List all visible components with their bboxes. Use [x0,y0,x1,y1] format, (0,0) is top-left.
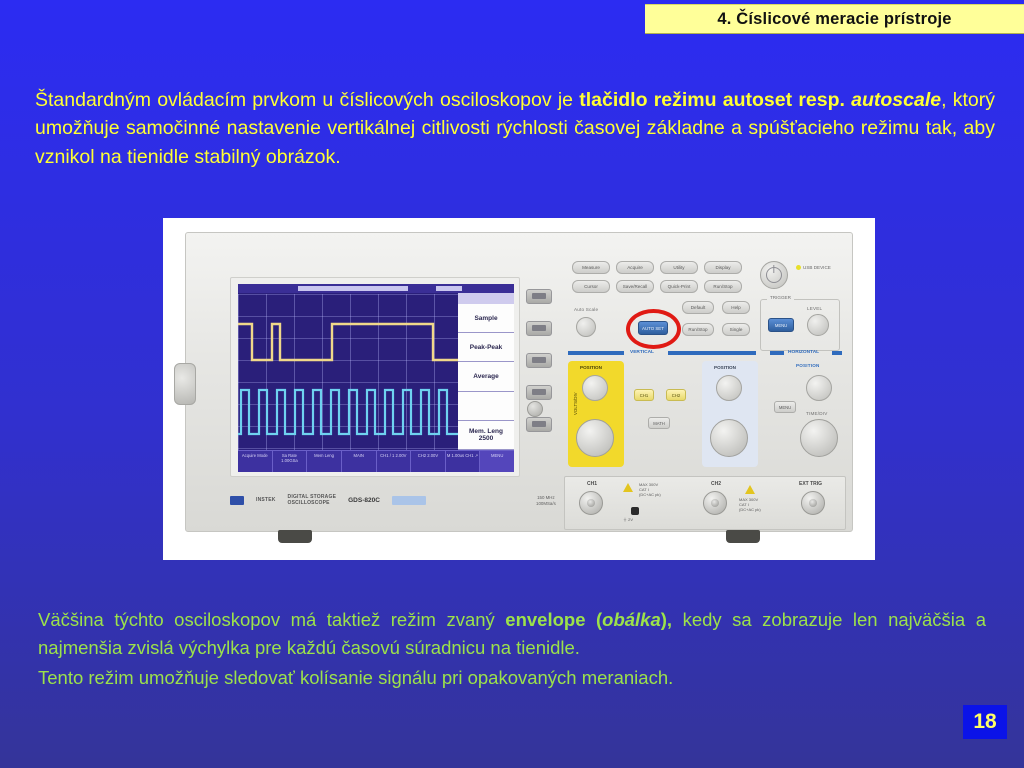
ch1-position-label: POSITION [580,365,602,370]
horizontal-block: POSITION MENU TIME/DIV [772,361,840,467]
vertical-section-bar [568,351,624,355]
ch2-position-knob[interactable] [716,375,742,401]
closing-text-bold1: envelope ( [505,609,602,630]
default-button[interactable]: Default [682,301,714,314]
menu-button-quick-print[interactable]: Quick-Print [660,280,698,293]
ext-trig-connector-label: EXT TRIG [799,481,822,487]
soft-menu-item-mem-length[interactable]: Mem. Leng 2500 [458,421,514,450]
ch2-bnc-connector[interactable] [703,491,727,515]
menu-button-acquire[interactable]: Acquire [616,261,654,274]
soft-menu-label: Average [473,373,498,380]
bottom-bar-cell: Mem Leng [307,451,342,472]
softkey-column [526,289,552,449]
brand-accent-bar [392,496,426,505]
menu-button-utility[interactable]: Utility [660,261,698,274]
page-number-badge: 18 [963,705,1007,739]
bottom-bar-cell: M 1.00us CH1 ↗ [446,451,481,472]
ch1-bnc-connector[interactable] [579,491,603,515]
closing-text-bolditalic1: obálka [602,609,661,630]
auto-scale-caption: Auto Scale [574,307,598,312]
waveform-ch2 [238,294,458,452]
ch1-volts-div-knob[interactable] [576,419,614,457]
math-button[interactable]: MATH [648,417,670,429]
front-foot-left [278,530,312,543]
auto-scale-knob[interactable] [576,317,596,337]
help-button[interactable]: Help [722,301,750,314]
bottom-bar-cell: MAIN [342,451,377,472]
side-carry-handle [174,363,196,405]
ch1-position-knob[interactable] [582,375,608,401]
ch1-vertical-block: POSITION VOLTS/DIV [568,361,624,467]
menu-button-measure[interactable]: Measure [572,261,610,274]
soft-menu-label: Peak-Peak [470,344,503,351]
bottom-bar-cell: MENU [480,451,514,472]
ch2-button[interactable]: CH2 [666,389,686,401]
product-category: DIGITAL STORAGE OSCILLOSCOPE [288,494,337,506]
soft-menu-item-peak-peak[interactable]: Peak-Peak [458,333,514,362]
closing-text-part3: Tento režim umožňuje sledovať kolísanie … [38,664,986,692]
status-bar-segment [436,286,462,291]
closing-text-part1: Väčšina týchto osciloskopov má taktiež r… [38,609,505,630]
power-icon [766,267,782,283]
horizontal-menu-button[interactable]: MENU [774,401,796,413]
page-number-text: 18 [973,710,996,734]
bandwidth-note: 150 MHz 100MSa/s [536,495,556,506]
intro-paragraph: Štandardným ovládacím prvkom u číslicový… [35,86,995,171]
softkey-button-1[interactable] [526,289,552,304]
ch1-connector-label: CH1 [587,481,597,487]
power-button[interactable] [760,261,788,289]
softkey-button-2[interactable] [526,321,552,336]
menu-button-cursor[interactable]: Cursor [572,280,610,293]
soft-menu-item-blank[interactable] [458,392,514,421]
screen-status-bar [238,284,514,293]
ch1-warning-text: MAX 300V CAT I (DC+AC pk) [639,482,661,498]
usb-led-icon [796,265,801,270]
softkey-glyph [532,421,546,427]
vertical-section-label: VERTICAL [630,350,654,355]
horizontal-time-div-knob[interactable] [800,419,838,457]
variable-knob[interactable] [527,401,543,417]
ch1-button[interactable]: CH1 [634,389,654,401]
vertical-section-bar2 [668,351,756,355]
menu-button-run-stop[interactable]: Run/Stop [704,280,742,293]
ch2-vertical-block: POSITION [702,361,758,467]
brand-strip: INSTEK DIGITAL STORAGE OSCILLOSCOPE GDS-… [230,491,530,509]
trigger-section: TRIGGER LEVEL MENU [760,299,840,351]
manufacturer-logo-icon [230,496,244,505]
horizontal-section-bar [770,351,784,355]
softkey-button-5[interactable] [526,417,552,432]
menu-button-display[interactable]: Display [704,261,742,274]
oscilloscope-photo: Sample Peak-Peak Average Mem. Leng 2500 [163,218,875,560]
screen-soft-menu: Sample Peak-Peak Average Mem. Leng 2500 [458,293,514,450]
trigger-menu-label: MENU [775,323,787,328]
ch2-volts-div-knob[interactable] [710,419,748,457]
single-button[interactable]: Single [722,323,750,336]
warning-triangle-icon [623,483,633,492]
warning-triangle-icon-2 [745,485,755,494]
run-stop-button[interactable]: Run/Stop [682,323,714,336]
manufacturer-name: INSTEK [256,497,276,503]
bottom-bar-cell: Sa Rate 1.00GSa [273,451,308,472]
oscilloscope-front-panel: Sample Peak-Peak Average Mem. Leng 2500 [185,232,853,532]
horizontal-section-bar2 [832,351,842,355]
status-bar-segment [298,286,408,291]
bottom-bar-cell: CH1 / 1 2.00V [377,451,412,472]
softkey-glyph [532,389,546,395]
soft-menu-label: Sample [474,315,497,322]
probe-compensation-terminal[interactable] [631,507,639,515]
slide-title-banner: 4. Číslicové meracie prístroje [645,4,1024,34]
softkey-button-4[interactable] [526,385,552,400]
bottom-bar-cell: Acquire Mode [238,451,273,472]
screen-bottom-bar: Acquire Mode Sa Rate 1.00GSa Mem Leng MA… [238,450,514,472]
trigger-level-caption: LEVEL [807,306,822,311]
softkey-glyph [532,357,546,363]
soft-menu-item-average[interactable]: Average [458,362,514,391]
closing-text-bold2: ), [661,609,672,630]
front-foot-right [726,530,760,543]
intro-text-part1: Štandardným ovládacím prvkom u číslicový… [35,89,579,111]
ext-trig-bnc-connector[interactable] [801,491,825,515]
slide-title-text: 4. Číslicové meracie prístroje [717,10,951,29]
horizontal-scale-label: TIME/DIV [806,411,828,416]
soft-menu-label: Mem. Leng [469,428,503,435]
vertical-horizontal-section: VERTICAL HORIZONTAL POSITION VOLTS/DIV C… [564,351,846,471]
menu-button-save-recall[interactable]: Save/Recall [616,280,654,293]
bottom-bar-cell: CH2 2.00V [411,451,446,472]
model-number: GDS-820C [348,497,380,504]
connector-panel: CH1 MAX 300V CAT I (DC+AC pk) ⏚ 2V CH2 M… [564,476,846,530]
ch2-position-label: POSITION [714,365,736,370]
ch2-connector-label: CH2 [711,481,721,487]
usb-label: USB DEVICE [803,265,831,270]
menu-button-grid: Measure Acquire Utility Display Cursor S… [572,261,742,293]
horizontal-position-label: POSITION [796,363,820,368]
display-bezel: Sample Peak-Peak Average Mem. Leng 2500 [230,277,520,477]
soft-menu-value: 2500 [479,435,493,442]
soft-menu-item-sample[interactable]: Sample [458,304,514,333]
intro-text-bold1: tlačidlo režimu autoset resp. [579,89,851,111]
trigger-menu-button[interactable]: MENU [768,318,794,332]
usb-device-indicator: USB DEVICE [796,265,831,271]
trigger-level-knob[interactable] [807,314,829,336]
softkey-glyph [532,293,546,299]
softkey-glyph [532,325,546,331]
soft-menu-header [458,293,514,304]
probe-comp-label: ⏚ 2V [623,517,633,522]
closing-paragraph: Väčšina týchto osciloskopov má taktiež r… [38,606,986,691]
horizontal-section-label: HORIZONTAL [788,350,819,355]
ch1-scale-label: VOLTS/DIV [573,392,578,415]
autoset-highlight-circle [626,309,681,349]
ch2-warning-text: MAX 300V CAT I (DC+AC pk) [739,497,761,513]
intro-text-bolditalic1: autoscale [851,89,941,111]
trigger-section-label: TRIGGER [767,295,794,300]
horizontal-position-knob[interactable] [806,375,832,401]
softkey-button-3[interactable] [526,353,552,368]
oscilloscope-screen: Sample Peak-Peak Average Mem. Leng 2500 [238,284,514,472]
